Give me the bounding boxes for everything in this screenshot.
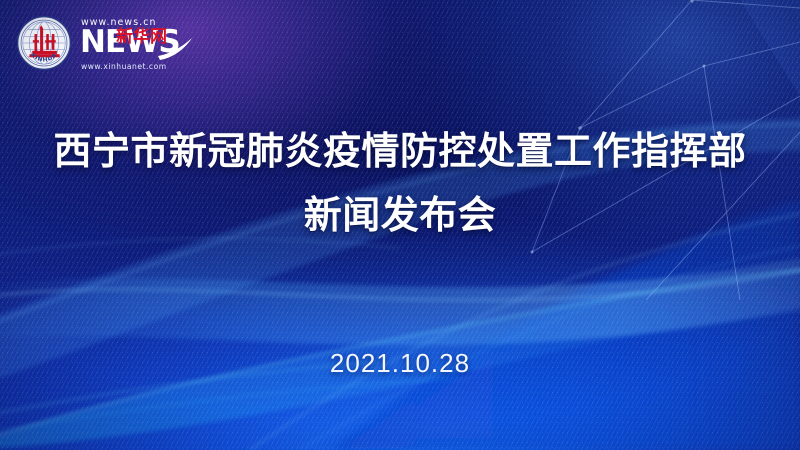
xinhua-logo[interactable]: XINHUA www.news.cn NEWS 新华网 www.xinhuane… [16,14,196,72]
xinhua-globe-emblem-icon: XINHUA [16,15,72,71]
page-title-line-2: 新闻发布会 [0,190,800,240]
wordmark-bottom-url: www.xinhuanet.com [81,62,167,71]
news-conference-slide: XINHUA www.news.cn NEWS 新华网 www.xinhuane… [0,0,800,450]
event-date: 2021.10.28 [0,348,800,379]
xinhua-wordmark: www.news.cn NEWS 新华网 www.xinhuanet.com [80,14,196,72]
wordmark-chinese: 新华网 [116,26,167,47]
title-block: 西宁市新冠肺炎疫情防控处置工作指挥部 新闻发布会 [0,126,800,240]
page-title-line-1: 西宁市新冠肺炎疫情防控处置工作指挥部 [0,126,800,176]
